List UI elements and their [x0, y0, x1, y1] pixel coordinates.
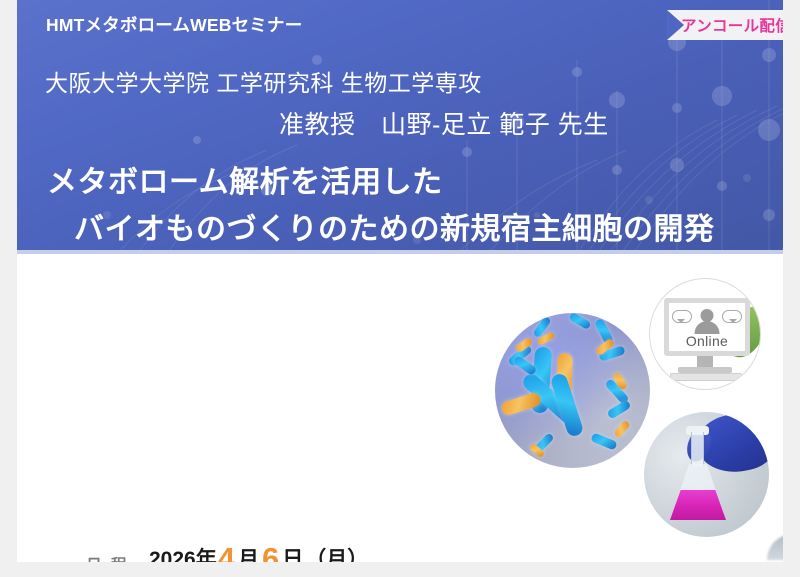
speech-bubble-left-icon: [672, 310, 692, 323]
seminar-title-line-2: バイオものづくりのための新規宿主細胞の開発: [74, 204, 715, 248]
schedule-value-line-1: 2026年4月6日（月）: [149, 541, 368, 562]
partial-circle-decoration: [767, 534, 783, 560]
keyboard-icon: [670, 373, 742, 381]
encore-badge-label: アンコール配信: [681, 14, 783, 36]
schedule-label: 日 程: [29, 553, 129, 562]
bacteria-image: [495, 313, 650, 468]
schedule-start-day-number: 6: [261, 541, 280, 562]
encore-badge: アンコール配信: [667, 10, 783, 40]
monitor-stand-icon: [697, 356, 713, 367]
header-divider: [17, 250, 783, 254]
schedule-start-month-number: 4: [217, 541, 236, 562]
schedule-start-weekday: （月）: [305, 548, 368, 562]
flask-liquid-icon: [670, 490, 726, 520]
poster-page: HMTメタボロームWEBセミナー アンコール配信 大阪大学大学院 工学研究科 生…: [0, 0, 800, 577]
brand-title: HMTメタボロームWEBセミナー: [46, 12, 302, 37]
speech-bubble-right-icon: [722, 310, 742, 323]
flask-neck-icon: [691, 432, 704, 466]
encore-badge-inner: アンコール配信: [667, 10, 783, 40]
speaker-organization: 大阪大学大学院 工学研究科 生物工学専攻: [45, 64, 482, 98]
schedule-year: 2026年: [149, 548, 217, 562]
online-label: Online: [669, 333, 745, 349]
header-band: HMTメタボロームWEBセミナー アンコール配信 大阪大学大学院 工学研究科 生…: [17, 0, 783, 254]
poster-card: HMTメタボロームWEBセミナー アンコール配信 大阪大学大学院 工学研究科 生…: [17, 0, 783, 562]
speaker-name: 准教授 山野-足立 範子 先生: [279, 105, 609, 141]
schedule-start-day-unit: 日: [280, 548, 305, 562]
online-image: Online: [649, 278, 761, 390]
schedule-start-month-unit: 月: [236, 548, 261, 562]
monitor-icon: Online: [664, 298, 750, 356]
flask-image: [644, 412, 769, 537]
monitor-screen: Online: [669, 303, 745, 351]
seminar-title-line-1: メタボローム解析を活用した: [47, 157, 443, 201]
